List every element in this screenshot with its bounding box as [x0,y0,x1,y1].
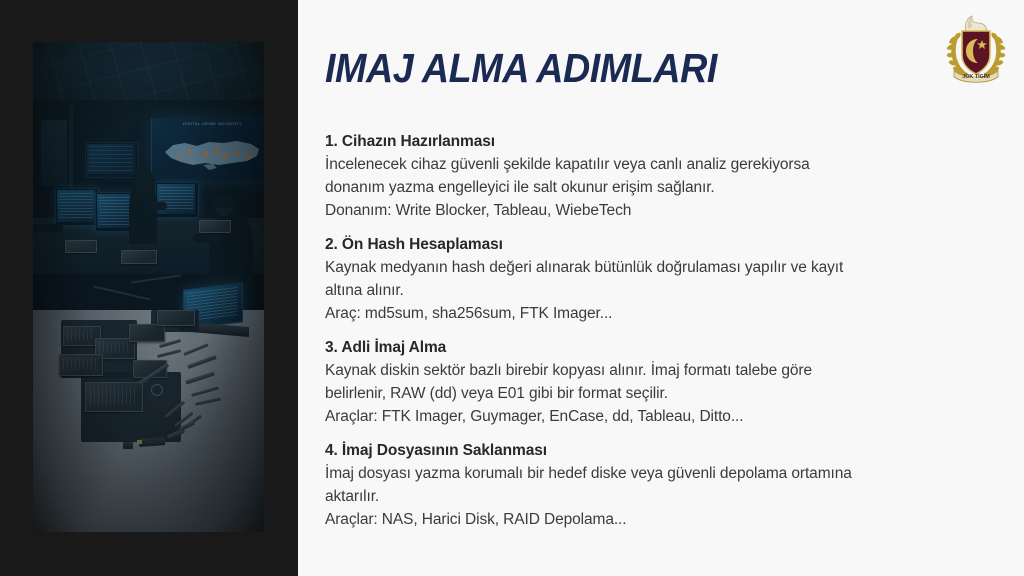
step-section: 3. Adli İmaj Alma Kaynak diskin sektör b… [325,337,997,428]
step-line: Araçlar: NAS, Harici Disk, RAID Depolama… [325,508,997,531]
photo-hard-drive-6 [157,310,195,326]
photo-write-blocker-2 [65,240,97,253]
photo-hard-drive-4-pcb [90,387,136,405]
photo-analyst-right-arm [193,234,223,243]
step-heading: 1. Cihazın Hazırlanması [325,131,997,152]
step-line: Araçlar: FTK Imager, Guymager, EnCase, d… [325,405,997,428]
photo-wall-monitor-text-rows [89,146,133,172]
shield-icon [962,31,990,74]
step-section: 4. İmaj Dosyasının Saklanması İmaj dosya… [325,440,997,531]
slide-root: DIGITAL CRIME INCIDENTS [0,0,1024,576]
forensic-lab-photo: DIGITAL CRIME INCIDENTS [33,42,264,532]
photo-cable-2 [131,275,181,284]
photo-analyst-right-hair [213,194,235,208]
step-line: altına alınır. [325,279,997,302]
photo-usb-drive-2 [123,442,133,449]
step-line: Kaynak diskin sektör bazlı birebir kopya… [325,359,997,382]
photo-write-blocker-1 [121,250,157,264]
photo-analyst-left-arm [33,224,63,232]
page-title: IMAJ ALMA ADIMLARI [325,48,717,89]
step-line: Donanım: Write Blocker, Tableau, WiebeTe… [325,199,997,222]
photo-monitor-left-1-code [59,193,93,219]
photo-hard-drive-1-pcb [67,330,95,340]
left-dark-panel: DIGITAL CRIME INCIDENTS [0,0,298,576]
photo-analyst-center-hair [134,168,154,194]
step-section: 1. Cihazın Hazırlanması İncelenecek ciha… [325,131,997,222]
steps-content: 1. Cihazın Hazırlanması İncelenecek ciha… [325,131,997,531]
crest-banner-text: JÖK TİGİM [962,73,990,80]
photo-magnifier-lens [151,384,163,396]
organization-crest-logo: JÖK TİGİM [944,13,1008,85]
photo-map-caption: DIGITAL CRIME INCIDENTS [183,122,264,126]
photo-hard-drive-2-pcb [99,342,129,353]
photo-hard-drive-5 [129,324,165,342]
step-line: Kaynak medyanın hash değeri alınarak büt… [325,256,997,279]
step-line: İncelenecek cihaz güvenli şekilde kapatı… [325,153,997,176]
step-line: aktarılır. [325,485,997,508]
photo-write-blocker-3 [199,220,231,233]
photo-hard-drive-3-pcb [63,358,97,370]
step-line: İmaj dosyası yazma korumalı bir hedef di… [325,462,997,485]
photo-usb-drive-1-connector [137,440,142,444]
step-heading: 2. Ön Hash Hesaplaması [325,234,997,255]
step-heading: 4. İmaj Dosyasının Saklanması [325,440,997,461]
step-line: belirlenir, RAW (dd) veya E01 gibi bir f… [325,382,997,405]
photo-analyst-center-arm [145,202,167,210]
step-section: 2. Ön Hash Hesaplaması Kaynak medyanın h… [325,234,997,325]
photo-wall-monitor-stand [107,176,115,180]
step-line: donanım yazma engelleyici ile salt okunu… [325,176,997,199]
step-heading: 3. Adli İmaj Alma [325,337,997,358]
photo-wall-whiteboard [41,120,67,186]
photo-ceiling-grid [33,42,264,104]
photo-map-graphic [159,132,264,176]
photo-cable-1 [94,286,151,301]
step-line: Araç: md5sum, sha256sum, FTK Imager... [325,302,997,325]
